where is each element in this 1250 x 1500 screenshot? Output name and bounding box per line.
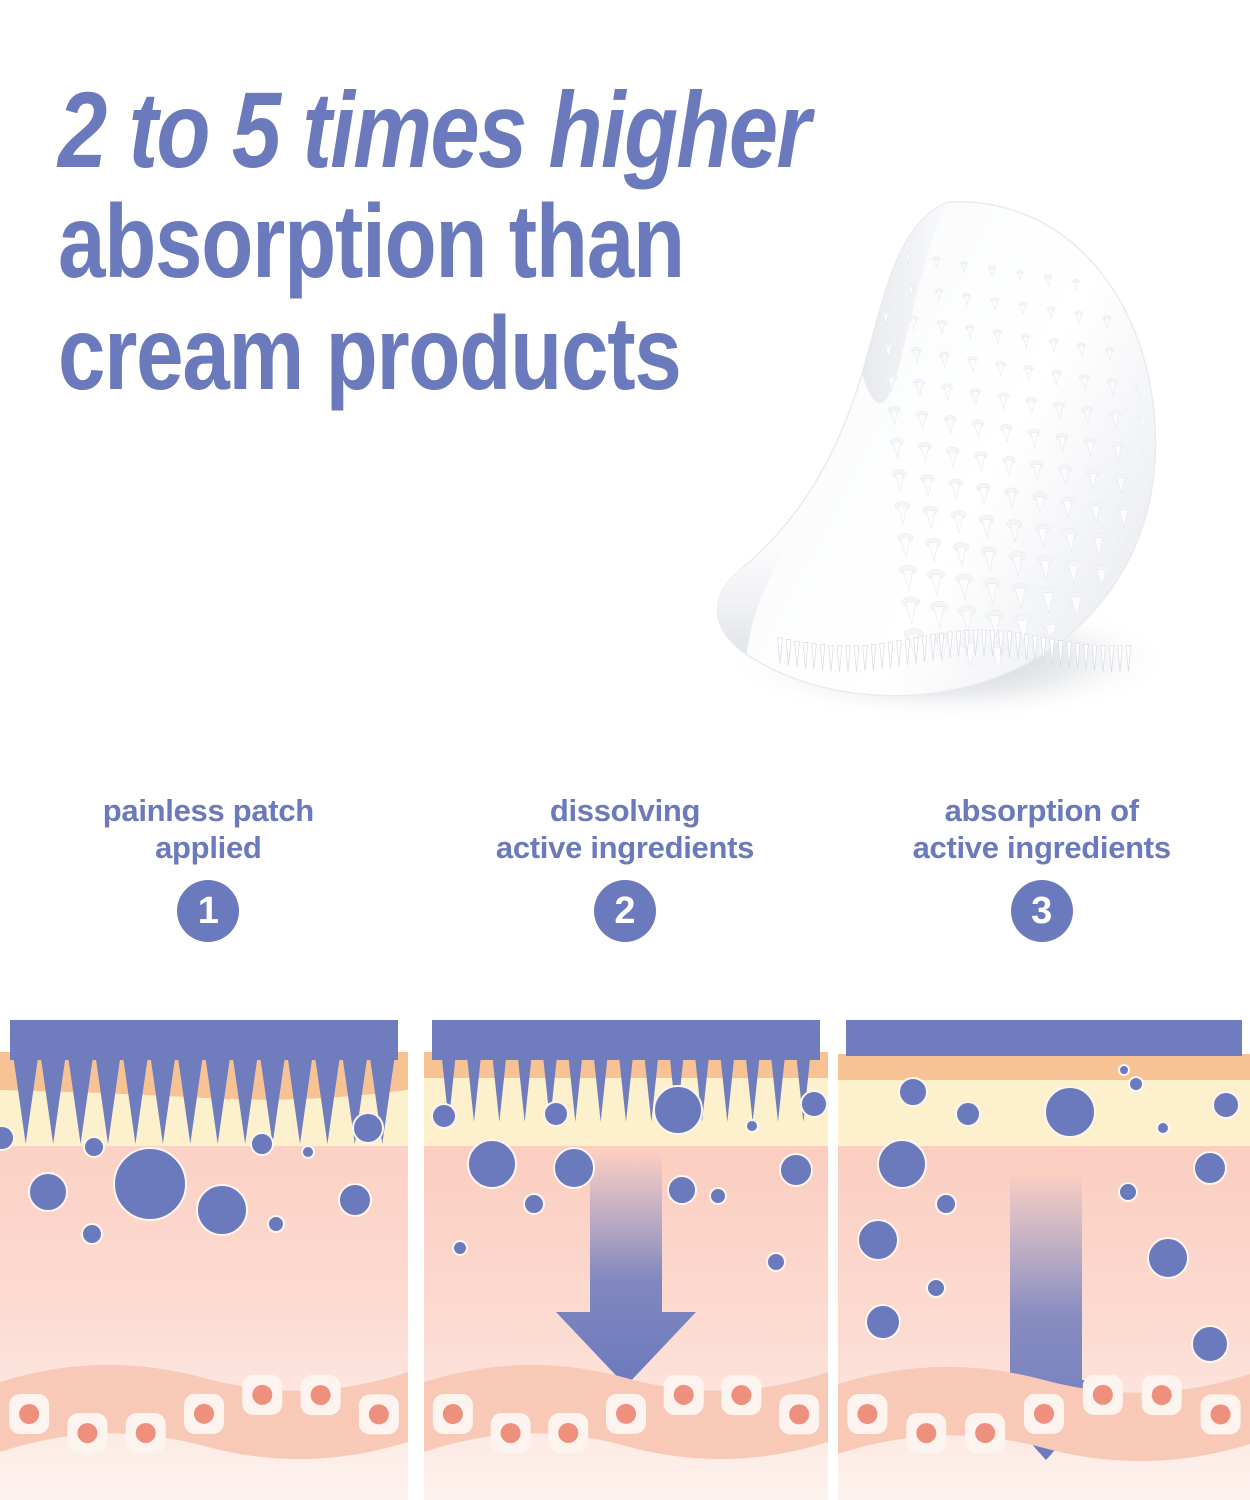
patch-bar [10,1020,398,1060]
step-3-badge: 3 [1011,880,1073,942]
headline-line-1: 2 to 5 times higher [58,74,763,186]
step-1-label: painless patch applied [97,792,320,866]
panel-patch-applied [0,1012,408,1500]
headline-block: 2 to 5 times higher absorption than crea… [58,74,918,410]
skin-cross-section-panels [0,1012,1250,1500]
step-2: dissolving active ingredients 2 [417,792,834,1004]
step-3-label: absorption of active ingredients [907,792,1177,866]
patch-bar [432,1020,820,1060]
headline-line-3: cream products [58,298,763,410]
panel-absorption [838,1012,1250,1500]
step-3: absorption of active ingredients 3 [833,792,1250,1004]
step-1-badge: 1 [177,880,239,942]
epidermis-layer [838,1054,1250,1080]
panel-dissolving [424,1012,828,1500]
step-1: painless patch applied 1 [0,792,417,1004]
step-2-badge: 2 [594,880,656,942]
headline-line-2: absorption than [58,186,763,298]
step-2-label: dissolving active ingredients [490,792,760,866]
patch-bar [846,1020,1242,1056]
process-steps: painless patch applied 1 dissolving acti… [0,792,1250,1004]
